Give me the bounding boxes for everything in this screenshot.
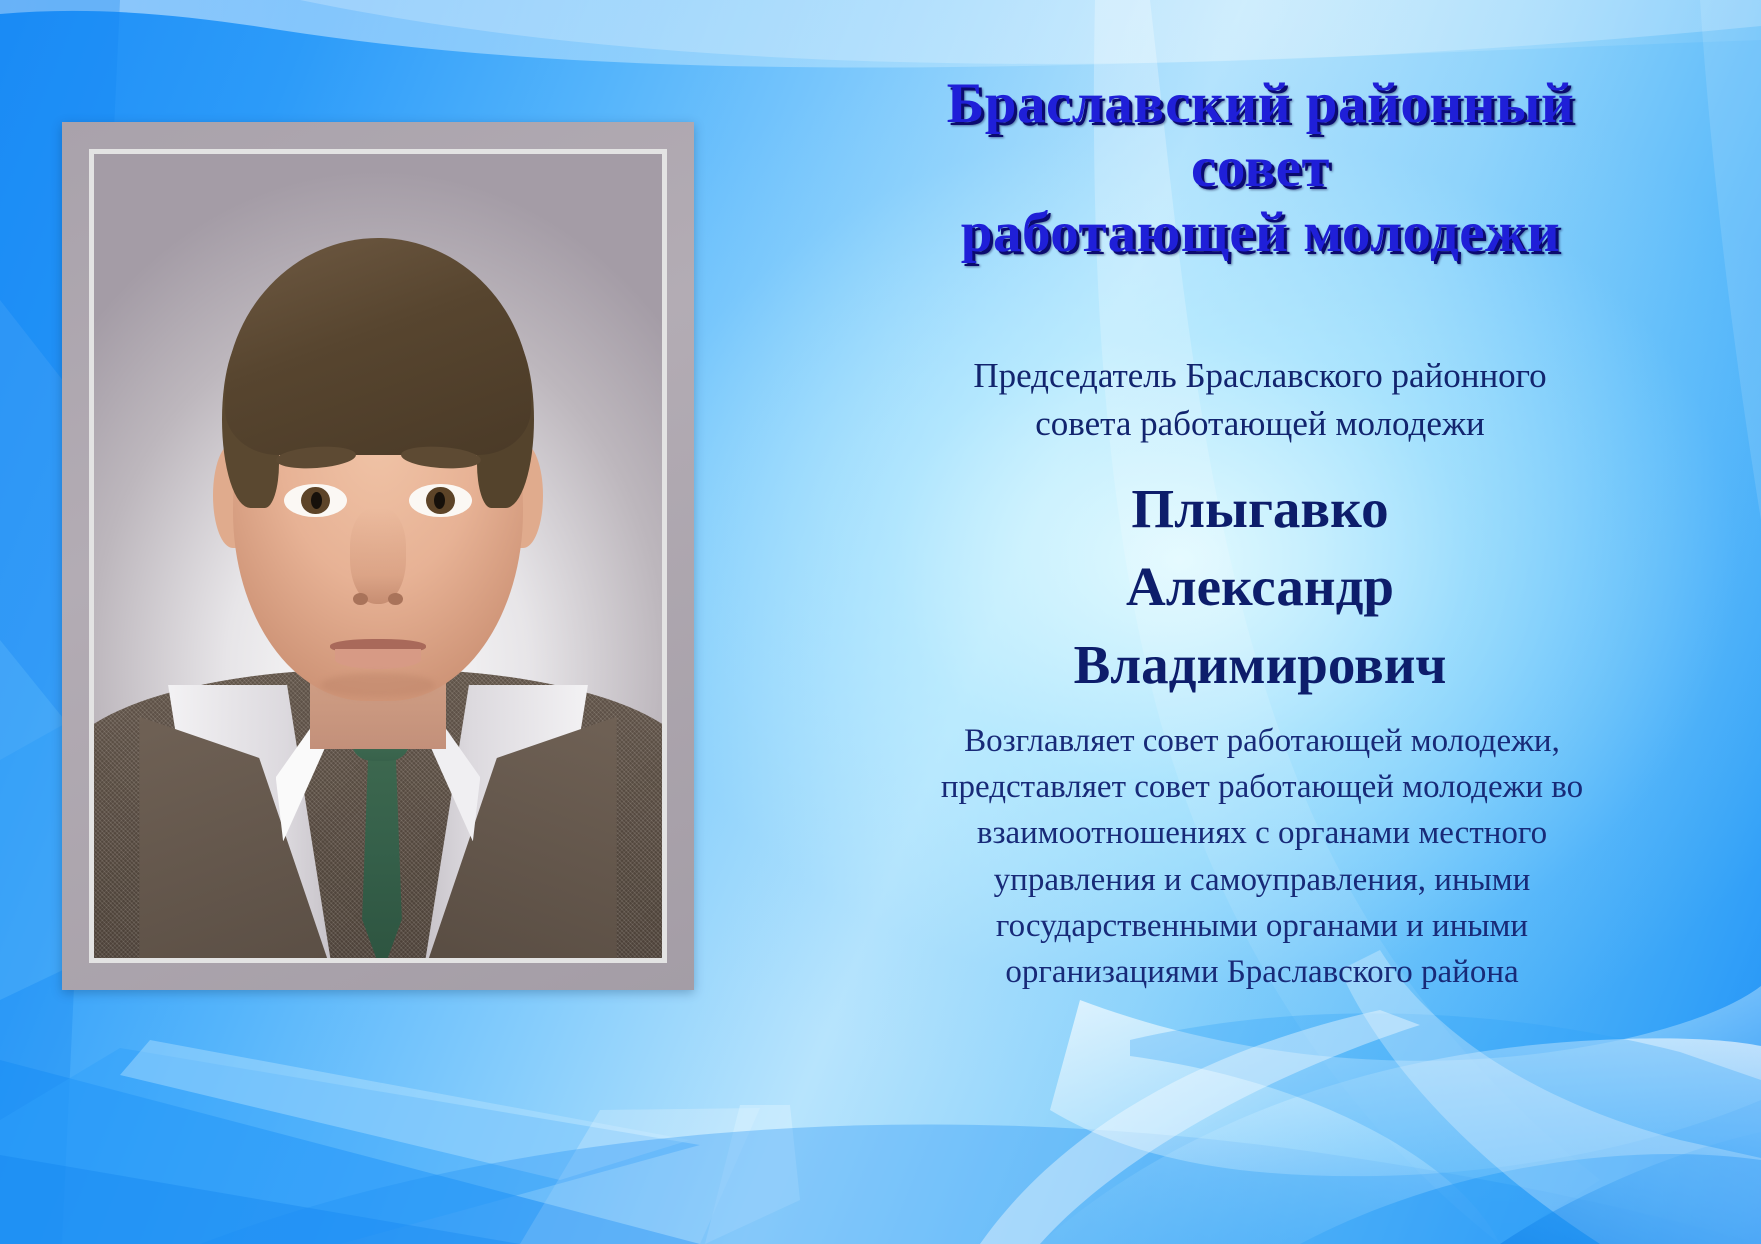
responsibilities-line-6: организациями Браславского района: [1005, 954, 1518, 990]
responsibilities-line-5: государственными органами и иными: [996, 908, 1528, 944]
person-surname: Плыгавко: [800, 470, 1720, 548]
portrait-photo-frame: [62, 122, 694, 990]
responsibilities-line-4: управления и самоуправления, иными: [994, 862, 1531, 898]
portrait-nostril-left: [353, 593, 368, 605]
person-name: Плыгавко Александр Владимирович: [800, 470, 1720, 704]
portrait-chin-shadow: [321, 673, 435, 697]
portrait-nostril-right: [388, 593, 403, 605]
responsibilities-text: Возглавляет совет работающей молодежи, п…: [782, 718, 1742, 995]
responsibilities-line-3: взаимоотношениях с органами местного: [977, 815, 1547, 851]
portrait-photo: [94, 154, 662, 958]
position-subtitle: Председатель Браславского районного сове…: [815, 352, 1705, 447]
responsibilities-line-2: представляет совет работающей молодежи в…: [941, 769, 1583, 805]
slide-title-line-1: Браславский районный: [947, 72, 1575, 135]
slide-root: Браславский районный совет работающей мо…: [0, 0, 1761, 1244]
text-column: Браславский районный совет работающей мо…: [760, 0, 1761, 1244]
portrait-lower-lip: [335, 649, 420, 668]
position-line-1: Председатель Браславского районного: [973, 356, 1546, 395]
position-line-2: совета работающей молодежи: [1035, 404, 1485, 443]
slide-title-line-3: работающей молодежи: [961, 201, 1560, 264]
person-patronymic: Владимирович: [800, 626, 1720, 704]
portrait-hair: [225, 238, 532, 455]
person-firstname: Александр: [800, 548, 1720, 626]
responsibilities-line-1: Возглавляет совет работающей молодежи,: [964, 723, 1560, 759]
slide-title-line-2: совет: [1191, 136, 1330, 199]
portrait-nose: [350, 508, 407, 604]
slide-title: Браславский районный совет работающей мо…: [760, 72, 1761, 265]
